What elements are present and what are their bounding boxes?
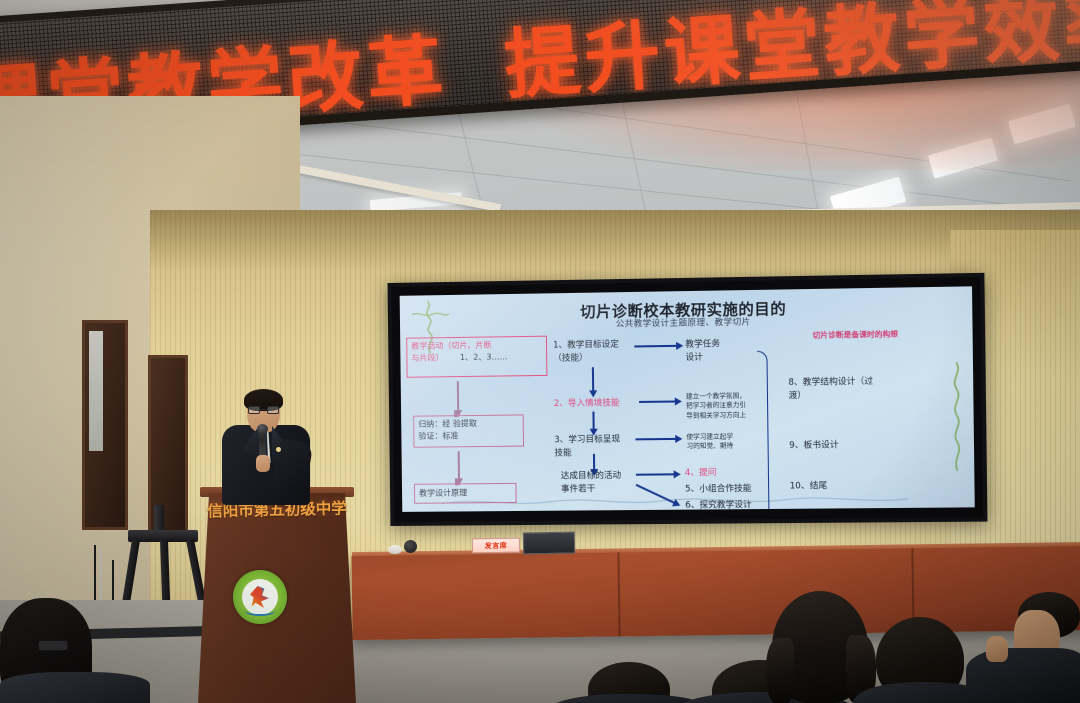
slide-box3-text: 教学设计原理 [419,487,467,499]
ceiling-light [928,137,998,178]
slide-right-item-4: 4、提问 [685,467,717,481]
slide-box-design-principle: 教学设计原理 [414,483,517,504]
slide-box1-line1: 教学活动（切片、片断 [411,340,491,350]
desk-microphone-base [404,540,417,553]
slide-far-item-9: 9、板书设计 [789,439,839,453]
audience-member-body [0,672,150,703]
audience-member-glasses [38,640,68,651]
school-emblem-icon [233,570,287,624]
slide-arrow-center-3 [593,454,595,470]
table-nameplate-text: 发言席 [485,540,508,550]
slide-box-teaching-activity: 教学活动（切片、片断 与片段） 1、2、3…… [406,336,547,378]
slide-center-item-3: 3、学习目标呈现 技能 [554,433,620,460]
slide-arrow-right-3 [635,438,676,440]
microphone-head [257,424,268,434]
slide-arrow-center-1 [592,367,594,391]
presentation-laptop [523,532,575,555]
slide-right-item-3: 使学习建立起学 习的知觉、期待 [686,432,733,452]
slide-box-induction: 归纳：经 验提取 验证：标准 [413,414,524,447]
slide-arrow-right-1 [634,345,677,348]
desk-object-mouse [388,545,402,554]
speaker-glasses [248,406,279,414]
presentation-slide: 切片诊断校本教研实施的目的 公共教学设计主题原理、教学切片 切片诊断是备课时的构… [400,286,975,512]
slide-box1-line2: 与片段） [411,353,443,362]
audience-hand [986,636,1008,662]
slide-box1-line3: 1、2、3…… [460,352,508,362]
slide-center-item-2: 2、导入情境技能 [554,397,620,411]
slide-right-item-1: 教学任务 设计 [685,338,720,365]
slide-brace [757,351,769,512]
slide-far-item-8: 8、教学结构设计（过 渡） [788,376,873,404]
ceiling-light [1008,104,1076,145]
slide-right-item-6: 6、探究教学设计 [685,499,752,512]
slide-box2-line2: 验证：标准 [418,431,458,440]
audience-shoulders [966,648,1080,703]
slide-box2-line1: 归纳：经 验提取 [418,419,477,429]
slide-arrow-right-2 [639,400,676,402]
decorative-squiggle-right [946,360,968,473]
conference-table [351,546,1080,640]
slide-center-item-1: 1、教学目标设定 （技能） [553,339,619,366]
slide-arrow-down-2 [458,451,460,479]
table-nameplate: 发言席 [472,538,520,554]
slide-arrow-down-1 [457,381,459,411]
door-left-far [82,320,128,530]
slide-arrow-right-4 [636,473,675,475]
slide-far-item-10: 10、结尾 [790,480,828,494]
slide-right-item-5: 5、小组合作技能 [685,483,752,497]
slide-center-item-4: 达成目标的活动 事件若干 [561,470,622,497]
slide-right-item-2: 建立一个教学氛围， 把学习者的注意力引 导到相关学习方向上 [686,392,746,421]
speaker-hand [256,455,270,472]
projection-screen: 切片诊断校本教研实施的目的 公共教学设计主题原理、教学切片 切片诊断是备课时的构… [388,273,988,526]
speaker-lapel-badge [276,447,281,452]
conference-hall-photo: 课堂教学改革提升课堂教学效率— 切片诊断校本教研实施的目的 公共教学设计主题原理 [0,0,1080,703]
slide-arrow-center-2 [592,412,594,430]
slide-red-note: 切片诊断是备课时的构想 [813,328,899,340]
audience-hair-strand [766,638,794,703]
